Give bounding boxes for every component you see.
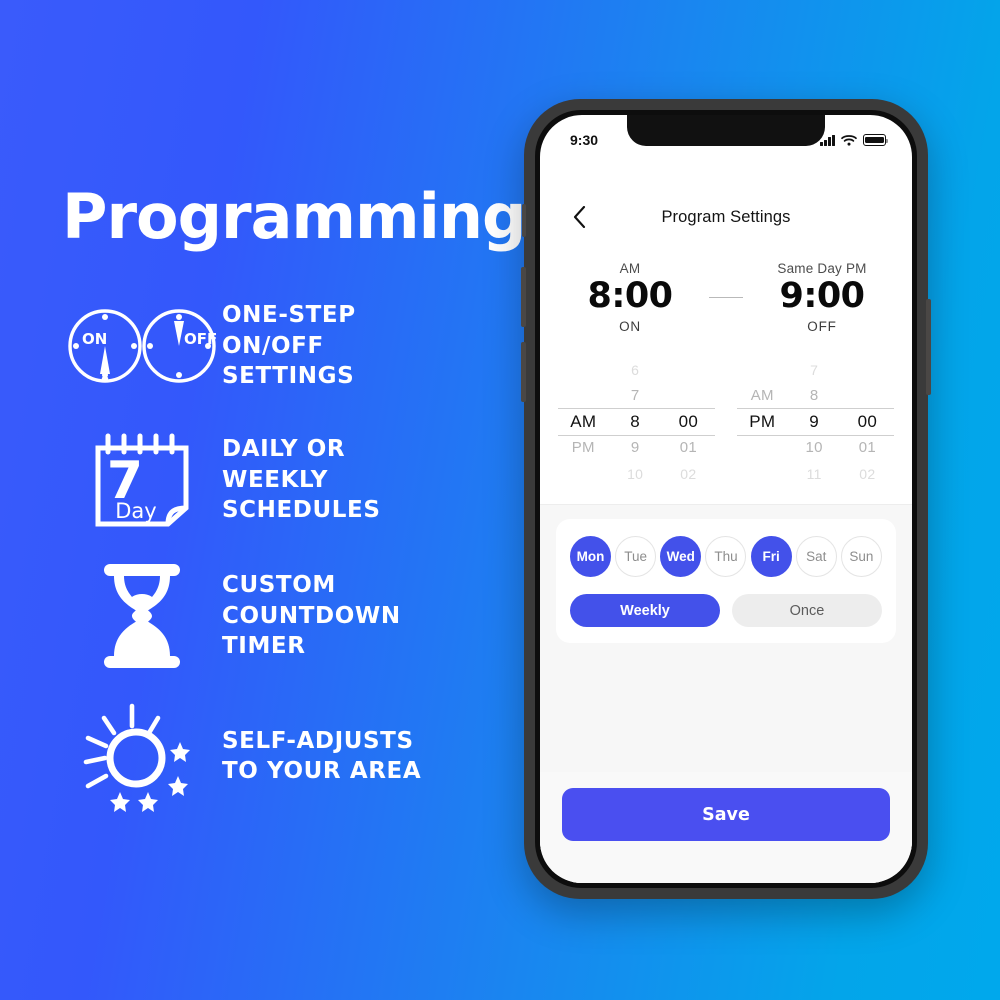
wheel-item-selected: 8 xyxy=(630,409,640,435)
time-range-separator xyxy=(709,297,743,299)
feature-countdown-timer: CUSTOM COUNTDOWN TIMER xyxy=(62,562,492,670)
wifi-icon xyxy=(841,134,857,146)
feature-line: DAILY OR xyxy=(222,434,381,464)
save-bar: Save xyxy=(540,772,912,883)
day-toggle-fri[interactable]: Fri xyxy=(751,536,792,577)
wheel-item: 6 xyxy=(631,357,639,383)
wheel-item-selected: 00 xyxy=(679,409,699,435)
feature-line: SELF-ADJUSTS xyxy=(222,726,421,756)
wheel-item-selected: 00 xyxy=(858,409,878,435)
on-time-value: 8:00 xyxy=(555,276,705,317)
off-time-picker[interactable]: AM PM 7 8 9 10 11 xyxy=(737,356,894,488)
wheel-item: 01 xyxy=(859,435,876,461)
power-button[interactable] xyxy=(926,299,931,395)
schedule-card: Mon Tue Wed Thu Fri Sat Sun Weekly Once xyxy=(556,519,896,643)
seven-day-calendar-icon: 7 Day xyxy=(62,430,222,530)
status-time: 9:30 xyxy=(570,132,598,148)
off-time-value: 9:00 xyxy=(747,276,897,317)
day-toggle-wed[interactable]: Wed xyxy=(660,536,701,577)
day-toggle-tue[interactable]: Tue xyxy=(615,536,656,577)
off-meridiem-wheel[interactable]: AM PM xyxy=(737,356,788,488)
time-pickers: AM PM 6 7 8 9 10 xyxy=(540,338,912,504)
feature-line: CUSTOM xyxy=(222,570,401,600)
wheel-item: 11 xyxy=(807,461,822,487)
off-minute-wheel[interactable]: 00 01 02 xyxy=(841,356,894,488)
wheel-item: 7 xyxy=(810,357,818,383)
wheel-item: 01 xyxy=(680,435,697,461)
wheel-item: 9 xyxy=(631,435,640,461)
wheel-item-selected: AM xyxy=(570,409,596,435)
phone-mockup: 9:30 xyxy=(524,99,928,899)
feature-line: ON/OFF xyxy=(222,331,356,361)
wheel-item-selected: 9 xyxy=(809,409,819,435)
clock-off-label: OFF xyxy=(184,330,217,348)
wheel-item: 02 xyxy=(680,461,696,487)
off-hour-wheel[interactable]: 7 8 9 10 11 xyxy=(788,356,841,488)
cellular-signal-icon xyxy=(820,135,835,146)
page-title: Programming xyxy=(62,186,492,248)
phone-screen: 9:30 xyxy=(540,115,912,883)
wheel-item-selected: PM xyxy=(749,409,775,435)
day-toggle-thu[interactable]: Thu xyxy=(705,536,746,577)
wheel-highlight-bottom xyxy=(737,435,894,436)
wheel-item: AM xyxy=(751,383,774,409)
wheel-highlight-top xyxy=(737,408,894,409)
day-toggle-sun[interactable]: Sun xyxy=(841,536,882,577)
feature-line: SCHEDULES xyxy=(222,495,381,525)
feature-line: TIMER xyxy=(222,631,401,661)
feature-label-countdown: CUSTOM COUNTDOWN TIMER xyxy=(222,570,401,661)
feature-line: WEEKLY xyxy=(222,465,381,495)
volume-down-button[interactable] xyxy=(521,342,526,402)
calendar-word: Day xyxy=(115,499,156,523)
promo-panel: Programming ON OFF xyxy=(62,186,492,842)
phone-bezel: 9:30 xyxy=(535,110,917,888)
feature-label-one-step: ONE-STEP ON/OFF SETTINGS xyxy=(222,300,356,391)
off-time-summary[interactable]: Same Day PM 9:00 OFF xyxy=(747,261,897,334)
status-bar: 9:30 xyxy=(540,115,912,159)
on-time-picker[interactable]: AM PM 6 7 8 9 10 xyxy=(558,356,715,488)
off-state-label: OFF xyxy=(747,319,897,334)
sun-moon-stars-icon xyxy=(62,700,222,812)
off-meridiem-label: Same Day PM xyxy=(747,261,897,276)
dual-clock-on-off-icon: ON OFF xyxy=(62,304,222,388)
wheel-item: 8 xyxy=(810,383,819,409)
on-hour-wheel[interactable]: 6 7 8 9 10 xyxy=(609,356,662,488)
wheel-highlight-top xyxy=(558,408,715,409)
save-button[interactable]: Save xyxy=(562,788,890,841)
feature-line: SETTINGS xyxy=(222,361,356,391)
on-minute-wheel[interactable]: 00 01 02 xyxy=(662,356,715,488)
time-summary: AM 8:00 ON Same Day PM 9:00 OFF xyxy=(540,247,912,338)
feature-daily-weekly: 7 Day DAILY OR WEEKLY SCHEDULES xyxy=(62,428,492,532)
on-meridiem-label: AM xyxy=(555,261,705,276)
nav-bar: Program Settings xyxy=(540,187,912,247)
day-toggle-sat[interactable]: Sat xyxy=(796,536,837,577)
feature-line: COUNTDOWN xyxy=(222,601,401,631)
wheel-item: PM xyxy=(572,435,595,461)
wheel-item: 7 xyxy=(631,383,640,409)
day-selector: Mon Tue Wed Thu Fri Sat Sun xyxy=(570,536,882,577)
wheel-item: 02 xyxy=(859,461,875,487)
wheel-highlight-bottom xyxy=(558,435,715,436)
page-header-title: Program Settings xyxy=(540,208,912,227)
wheel-item: 10 xyxy=(627,461,643,487)
feature-one-step-onoff: ON OFF ONE-STEP ON/OFF SETTINGS xyxy=(62,294,492,398)
feature-label-self-adjusts: SELF-ADJUSTS TO YOUR AREA xyxy=(222,726,421,787)
clock-on-label: ON xyxy=(82,330,107,348)
on-state-label: ON xyxy=(555,319,705,334)
wheel-item: 10 xyxy=(806,435,823,461)
day-toggle-mon[interactable]: Mon xyxy=(570,536,611,577)
feature-label-daily-weekly: DAILY OR WEEKLY SCHEDULES xyxy=(222,434,381,525)
repeat-once-button[interactable]: Once xyxy=(732,594,882,627)
feature-line: ONE-STEP xyxy=(222,300,356,330)
on-meridiem-wheel[interactable]: AM PM xyxy=(558,356,609,488)
repeat-weekly-button[interactable]: Weekly xyxy=(570,594,720,627)
feature-line: TO YOUR AREA xyxy=(222,756,421,786)
battery-full-icon xyxy=(863,134,886,146)
silent-switch-button[interactable] xyxy=(522,204,526,237)
volume-up-button[interactable] xyxy=(521,267,526,327)
status-icons xyxy=(820,134,886,146)
repeat-mode-selector: Weekly Once xyxy=(570,594,882,627)
feature-self-adjusts: SELF-ADJUSTS TO YOUR AREA xyxy=(62,700,492,812)
on-time-summary[interactable]: AM 8:00 ON xyxy=(555,261,705,334)
hourglass-icon xyxy=(62,562,222,670)
